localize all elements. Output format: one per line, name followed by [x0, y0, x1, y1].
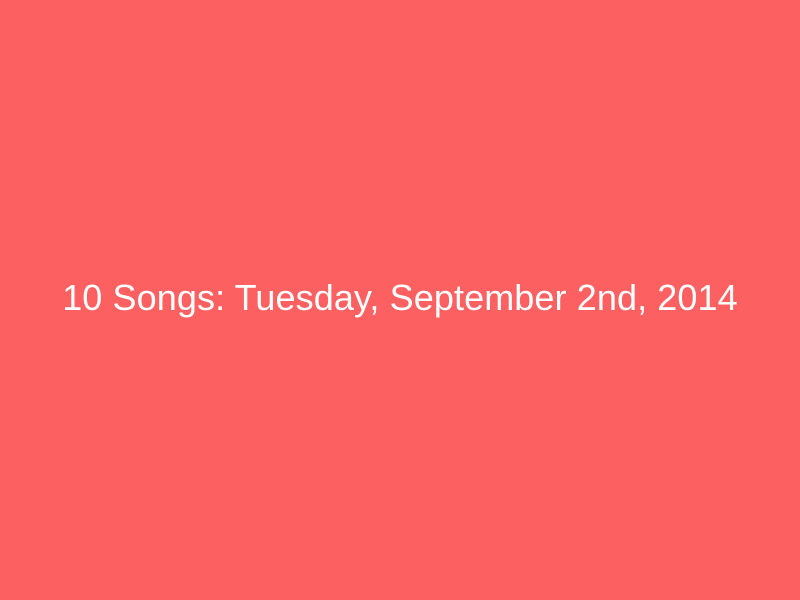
page-title: 10 Songs: Tuesday, September 2nd, 2014	[24, 276, 776, 320]
title-container: 10 Songs: Tuesday, September 2nd, 2014	[0, 276, 800, 320]
cover-card: 10 Songs: Tuesday, September 2nd, 2014	[0, 0, 800, 600]
